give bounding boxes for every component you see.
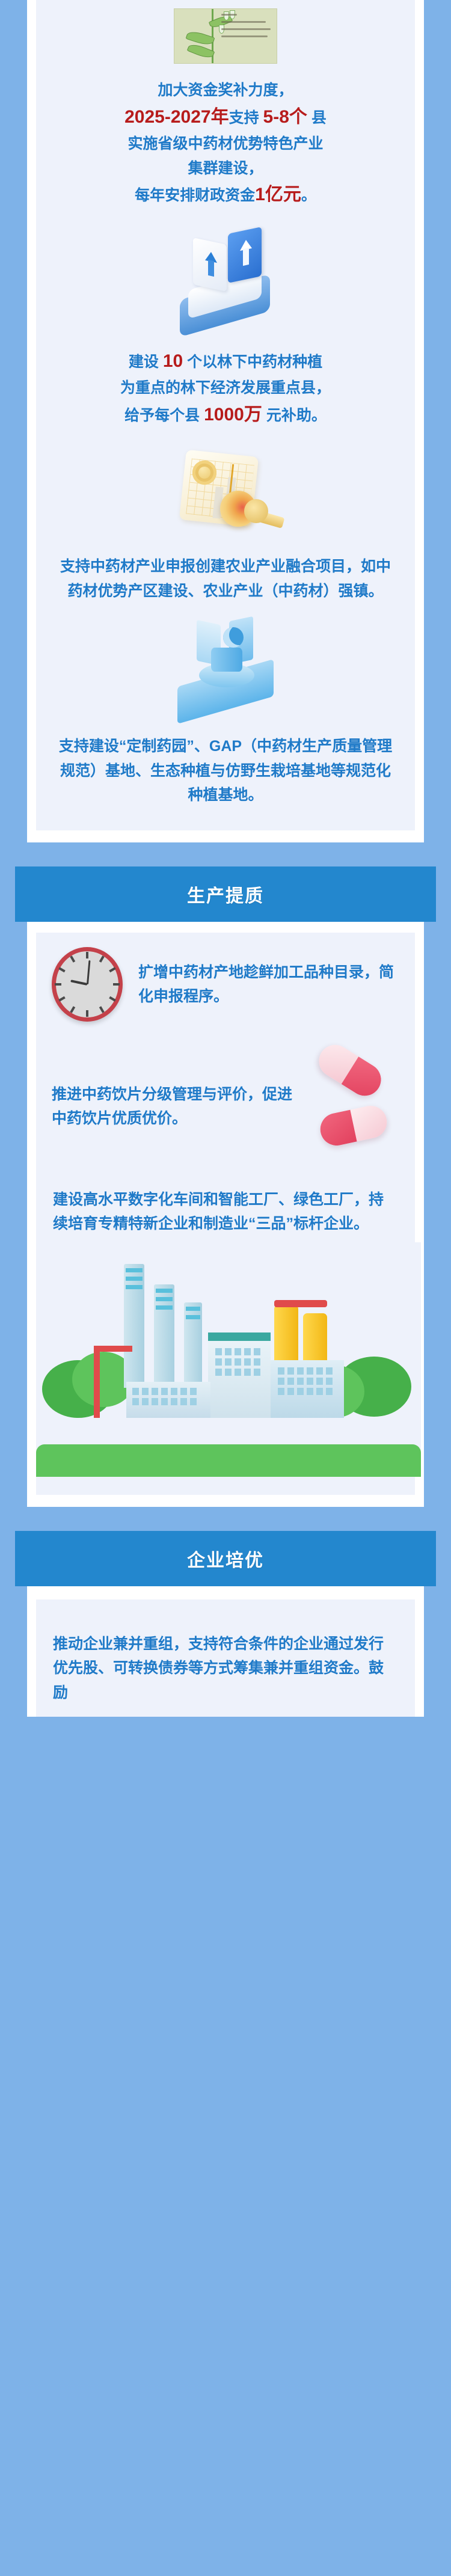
forest-county-num: 10 <box>163 351 183 371</box>
forest-pre3: 给予每个县 <box>124 407 204 424</box>
funding-county-count: 5-8个 <box>263 107 307 127</box>
production-item-capsule-text: 推进中药饮片分级管理与评价，促进中药饮片优质优价。 <box>52 1082 309 1130</box>
forest-pre1: 建设 <box>129 354 163 370</box>
forest-line2: 为重点的林下经济发展重点县， <box>120 379 331 396</box>
spacer-1 <box>0 842 451 866</box>
forest-mid1: 个以林下中药材种植 <box>183 354 322 370</box>
infographic-page: 加大资金奖补力度， 2025-2027年支持 5-8个 县 实施省级中药材优势特… <box>0 0 451 1717</box>
funding-years: 2025-2027年 <box>124 107 229 127</box>
gap-base-icon <box>165 618 286 720</box>
arrows-illustration-wrap <box>36 216 415 341</box>
factory-illustration-wrap <box>36 1242 415 1477</box>
agri-project-paragraph: 支持中药材产业申报创建农业产业融合项目，如中药材优势产区建设、农业产业（中药材）… <box>36 548 415 609</box>
section-title-production: 生产提质 <box>187 881 264 907</box>
funding-line3: 实施省级中药材优势特色产业 <box>127 135 323 152</box>
funding-paragraph: 加大资金奖补力度， 2025-2027年支持 5-8个 县 实施省级中药材优势特… <box>36 72 415 216</box>
growth-arrows-icon <box>165 224 286 333</box>
funding-line5-pre: 每年安排财政资金 <box>135 187 255 204</box>
section-title-enterprise: 企业培优 <box>187 1545 264 1572</box>
funding-line2-mid: 支持 <box>229 109 263 126</box>
capsule-icon <box>309 1043 399 1170</box>
funding-card: 加大资金奖补力度， 2025-2027年支持 5-8个 县 实施省级中药材优势特… <box>27 0 424 842</box>
clock-icon <box>52 947 123 1022</box>
herbal-plant-illustration-icon <box>174 8 277 64</box>
enterprise-item-text: 推动企业兼并重组，支持符合条件的企业通过发行优先股、可转换债券等方式筹集兼并重组… <box>36 1626 415 1711</box>
spacer-2 <box>0 1507 451 1531</box>
section-header-enterprise: 企业培优 <box>15 1531 436 1586</box>
gap-illustration-wrap <box>36 609 415 728</box>
section-header-production: 生产提质 <box>15 866 436 922</box>
factory-icon <box>36 1242 421 1477</box>
gold-chart-illustration-wrap <box>36 435 415 548</box>
herb-illustration-wrap <box>36 0 415 72</box>
funding-line5-post: 。 <box>301 187 316 204</box>
production-item-clock-text: 扩增中药材产地趁鲜加工品种目录，简化申报程序。 <box>138 960 399 1008</box>
production-item-capsule: 推进中药饮片分级管理与评价，促进中药饮片优质优价。 <box>36 1040 415 1173</box>
forest-paragraph: 建设 10 个以林下中药材种植 为重点的林下经济发展重点县， 给予每个县 100… <box>36 341 415 436</box>
enterprise-card: 推动企业兼并重组，支持符合条件的企业通过发行优先股、可转换债券等方式筹集兼并重组… <box>27 1586 424 1717</box>
enterprise-inner: 推动企业兼并重组，支持符合条件的企业通过发行优先股、可转换债券等方式筹集兼并重组… <box>36 1599 415 1717</box>
production-inner: 扩增中药材产地趁鲜加工品种目录，简化申报程序。 推进中药饮片分级管理与评价，促进… <box>36 933 415 1495</box>
funding-amount: 1亿元 <box>255 185 301 204</box>
production-item-factory-text: 建设高水平数字化车间和智能工厂、绿色工厂，持续培育专精特新企业和制造业“三品”标… <box>36 1182 415 1242</box>
gap-base-paragraph: 支持建设“定制药园”、GAP（中药材生产质量管理规范）基地、生态种植与仿野生栽培… <box>36 728 415 814</box>
funding-line4: 集群建设， <box>188 160 263 177</box>
funding-line1: 加大资金奖补力度， <box>158 82 293 99</box>
funding-inner: 加大资金奖补力度， 2025-2027年支持 5-8个 县 实施省级中药材优势特… <box>36 0 415 830</box>
funding-line2-post: 县 <box>307 109 327 126</box>
production-item-clock: 扩增中药材产地趁鲜加工品种目录，简化申报程序。 <box>36 943 415 1025</box>
forest-post3: 元补助。 <box>262 407 327 424</box>
megaphone-chart-icon <box>162 444 289 540</box>
forest-subsidy: 1000万 <box>204 405 262 425</box>
production-card: 扩增中药材产地趁鲜加工品种目录，简化申报程序。 推进中药饮片分级管理与评价，促进… <box>27 922 424 1507</box>
